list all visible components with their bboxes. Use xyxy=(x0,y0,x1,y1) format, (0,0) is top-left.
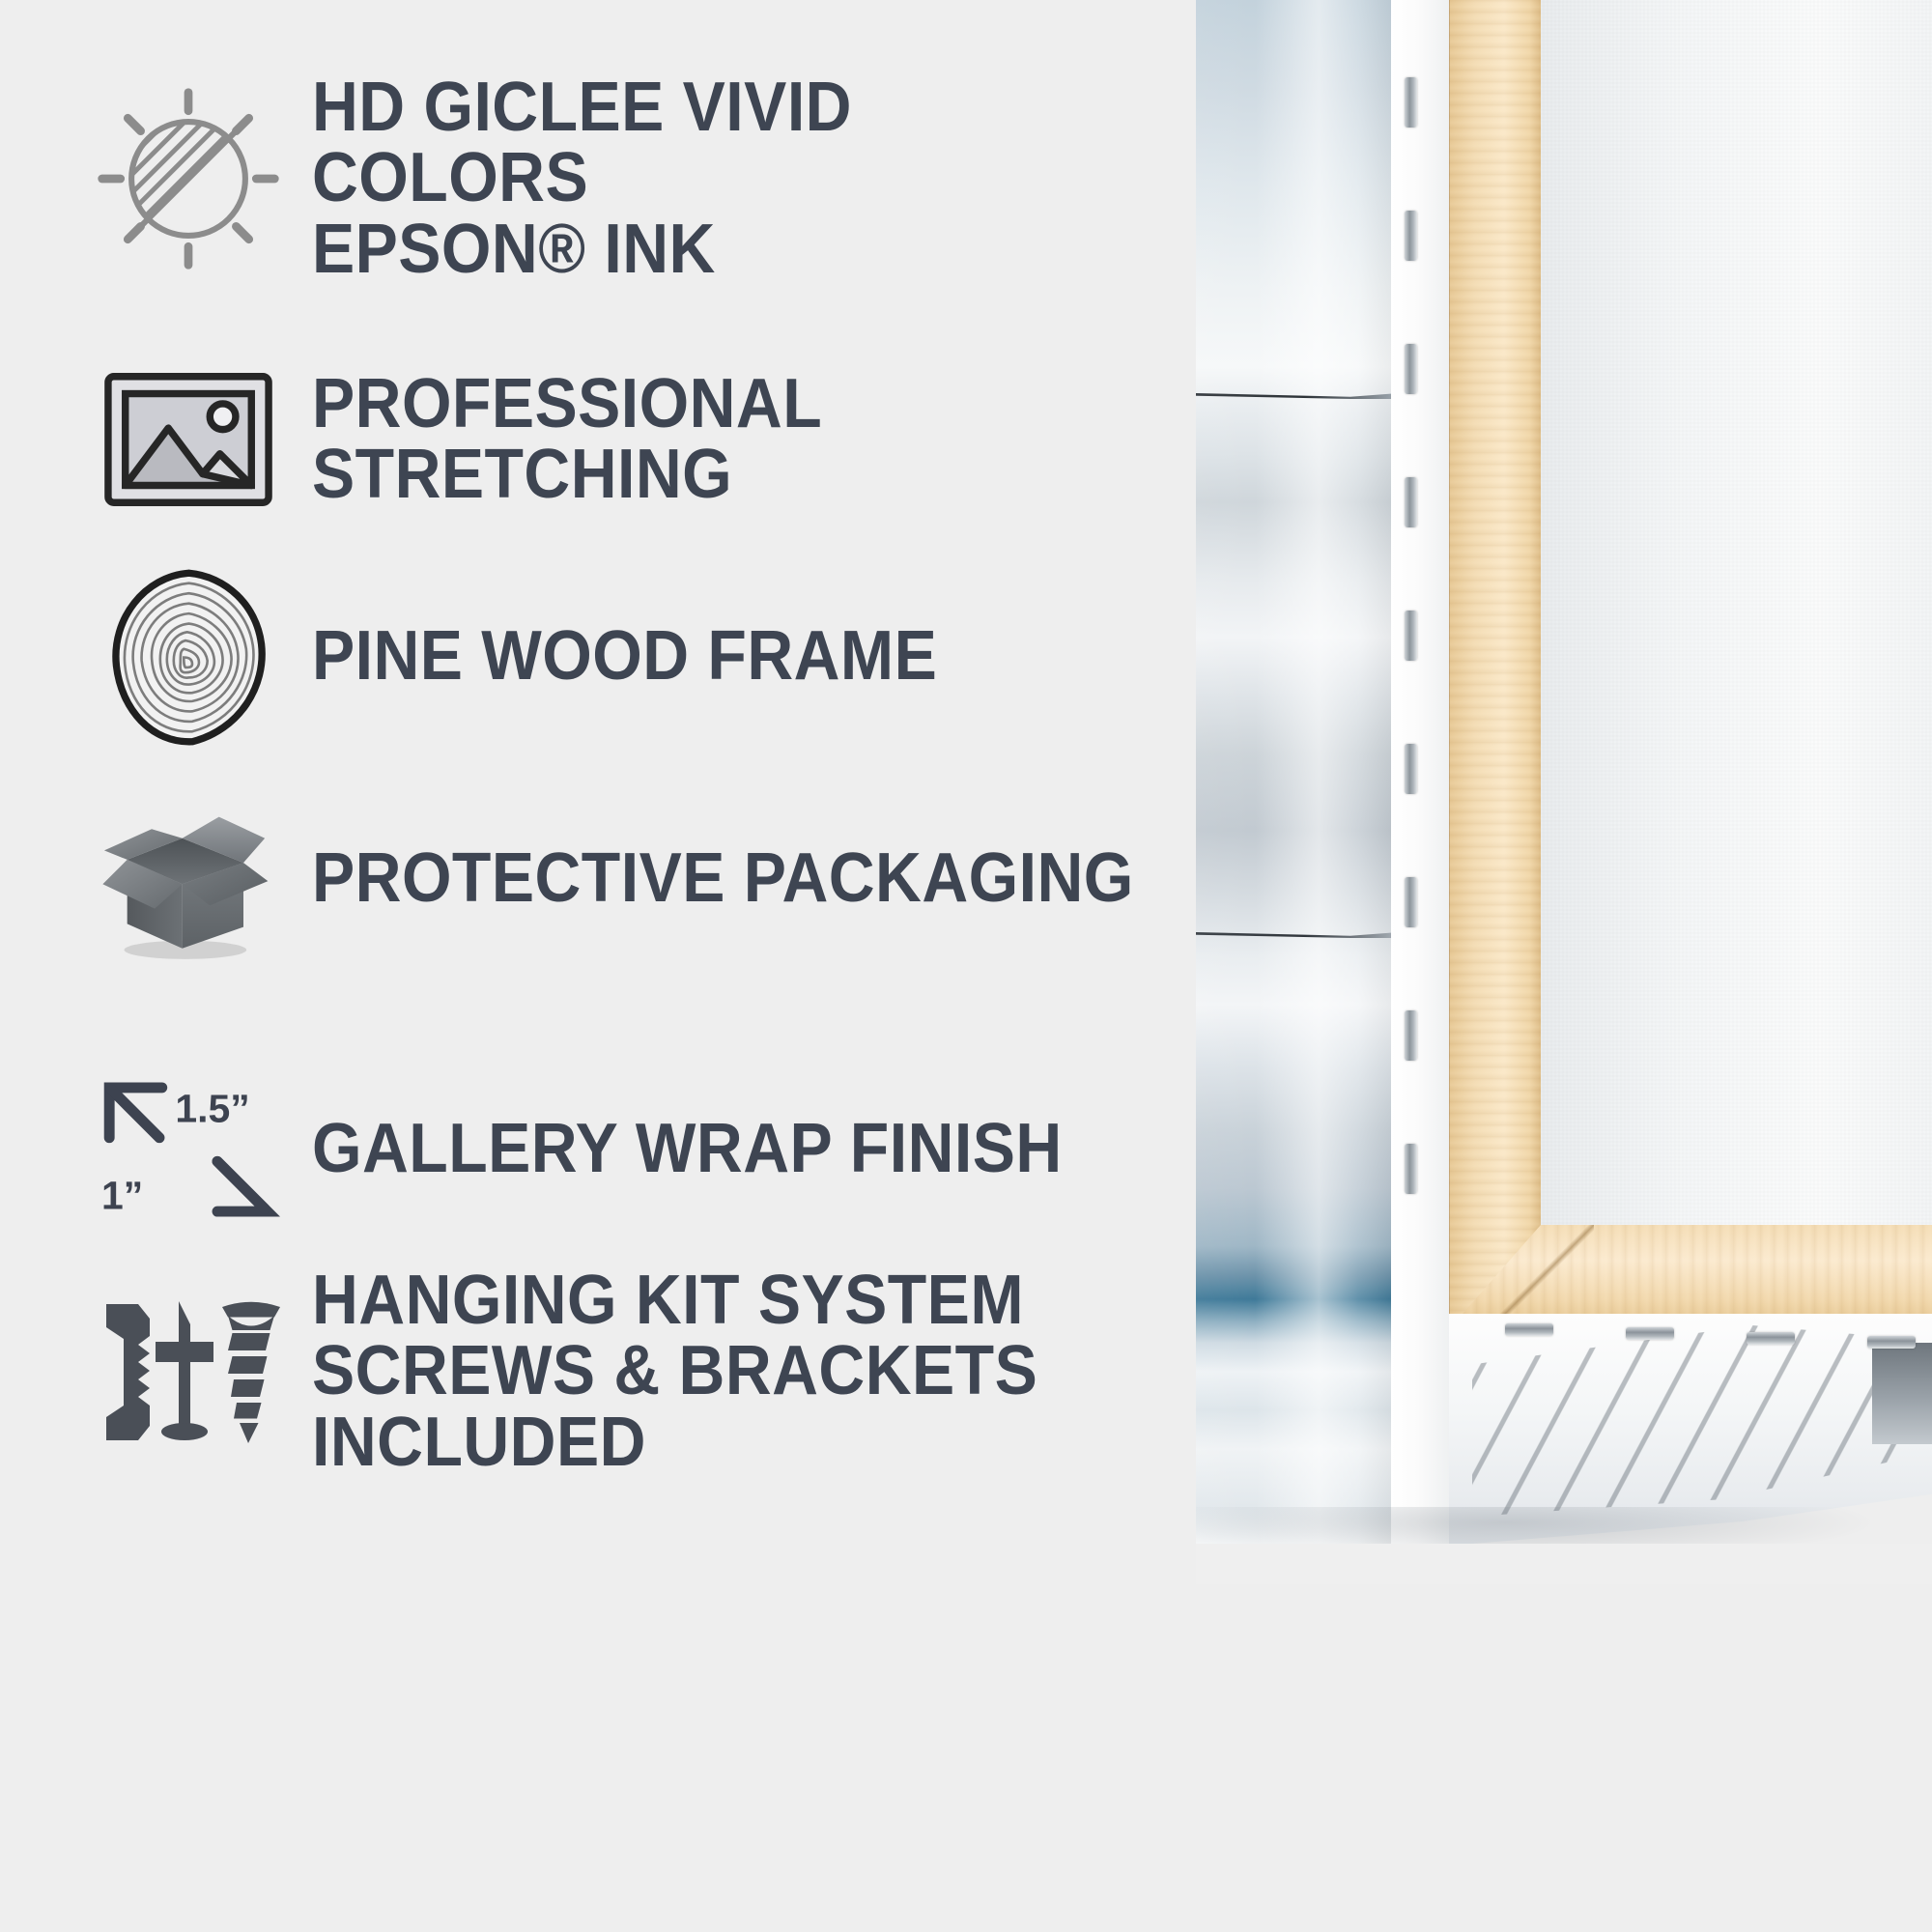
staple xyxy=(1405,77,1417,128)
staple xyxy=(1405,477,1417,527)
feature-list: HD GICLEE VIVID COLORS EPSON® INK PROFES… xyxy=(0,0,1217,1932)
feature-label-gallery-wrap-finish: GALLERY WRAP FINISH xyxy=(312,1114,1063,1184)
staple xyxy=(1867,1336,1916,1349)
stretched-canvas-back-corner-photo xyxy=(1196,0,1932,1584)
framed-landscape-photo-icon xyxy=(92,343,285,536)
dimension-top-label: 1.5” xyxy=(175,1086,249,1130)
feature-label-pine-wood-frame: PINE WOOD FRAME xyxy=(312,621,937,692)
feature-label-professional-stretching: PROFESSIONAL STRETCHING xyxy=(312,369,1140,511)
feature-label-hanging-kit: HANGING KIT SYSTEM SCREWS & BRACKETS INC… xyxy=(312,1265,1140,1478)
feature-item-hanging-kit: HANGING KIT SYSTEM SCREWS & BRACKETS INC… xyxy=(92,1265,1212,1478)
staple xyxy=(1405,1010,1417,1061)
staple xyxy=(1405,611,1417,661)
canvas-back-surface xyxy=(1536,0,1932,1246)
infographic-root: HD GICLEE VIVID COLORS EPSON® INK PROFES… xyxy=(0,0,1932,1932)
bracket-nail-screw-icon xyxy=(92,1275,285,1468)
feature-item-pine-wood-frame: PINE WOOD FRAME xyxy=(92,560,1212,753)
staple xyxy=(1405,877,1417,927)
feature-label-protective-packaging: PROTECTIVE PACKAGING xyxy=(312,843,1134,914)
staple xyxy=(1405,1144,1417,1194)
pine-stretcher-bar-vertical xyxy=(1449,0,1541,1372)
staple xyxy=(1747,1332,1795,1345)
depth-arrows-icon: 1.5” 1” xyxy=(92,1053,285,1246)
feature-item-hd-giclee: HD GICLEE VIVID COLORS EPSON® INK xyxy=(92,72,1212,285)
canvas-side-lip xyxy=(1391,0,1451,1550)
staple xyxy=(1405,211,1417,261)
staple xyxy=(1405,744,1417,794)
staple xyxy=(1405,344,1417,394)
tree-rings-icon xyxy=(92,560,285,753)
feature-item-gallery-wrap-finish: 1.5” 1” GALLERY WRAP FINISH xyxy=(92,1053,1212,1246)
staple xyxy=(1626,1327,1674,1340)
dimension-bottom-label: 1” xyxy=(101,1173,143,1217)
open-cardboard-box-icon xyxy=(92,782,285,976)
feature-item-professional-stretching: PROFESSIONAL STRETCHING xyxy=(92,343,1212,536)
feature-item-protective-packaging: PROTECTIVE PACKAGING xyxy=(92,782,1212,976)
feature-label-hd-giclee: HD GICLEE VIVID COLORS EPSON® INK xyxy=(312,72,1140,285)
artwork-sliver xyxy=(1872,1343,1932,1444)
staple xyxy=(1505,1323,1553,1336)
sun-hatched-icon xyxy=(92,82,285,275)
photo-background-fill xyxy=(1196,1544,1932,1584)
wrapped-edge-sheen xyxy=(1196,0,1394,1546)
